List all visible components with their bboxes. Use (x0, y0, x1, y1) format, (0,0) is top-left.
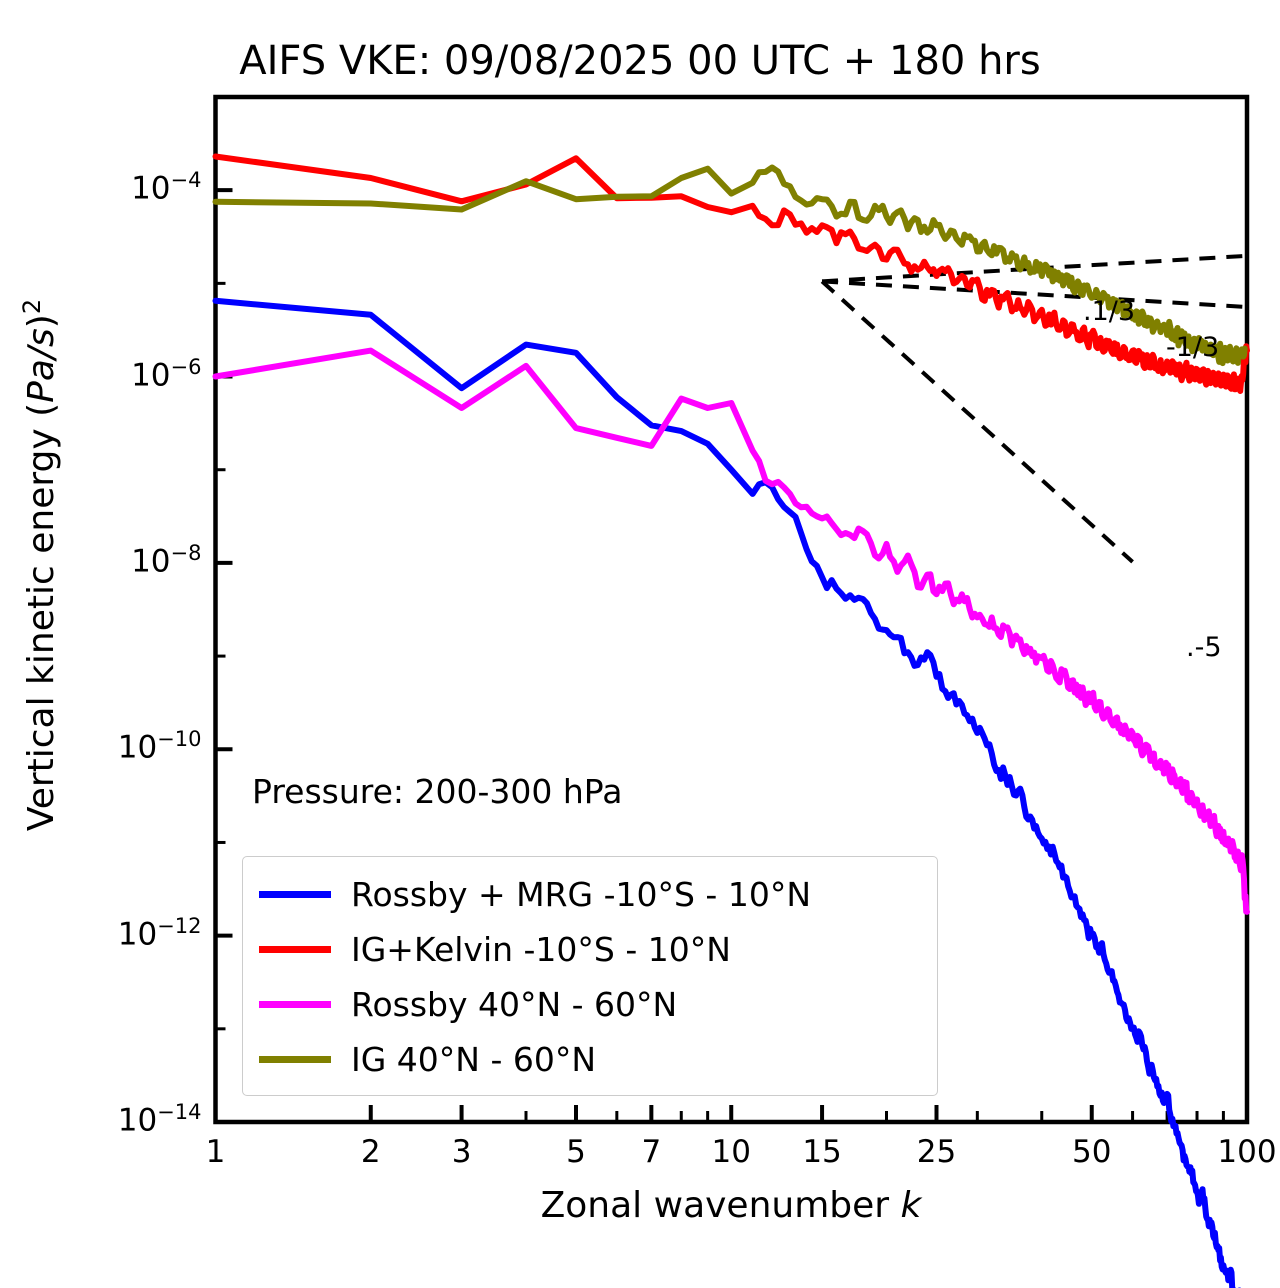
x-tick-label: 100 (1197, 1134, 1280, 1170)
chart-figure: AIFS VKE: 09/08/2025 00 UTC + 180 hrs Ve… (0, 0, 1280, 1288)
legend-swatch-red (259, 946, 331, 953)
x-tick-label: 1 (166, 1134, 266, 1170)
slope-label-pos-third: .1/3 (1083, 296, 1135, 327)
x-tick-label: 25 (886, 1134, 986, 1170)
x-tick-label: 50 (1042, 1134, 1142, 1170)
legend-item-rossby-mrg[interactable]: Rossby + MRG -10°S - 10°N (243, 867, 937, 922)
reference-lines (822, 256, 1247, 562)
legend-item-ig-midlat[interactable]: IG 40°N - 60°N (243, 1032, 937, 1087)
legend-label: IG+Kelvin -10°S - 10°N (351, 933, 731, 966)
x-tick-label: 15 (772, 1134, 872, 1170)
series-line (216, 351, 1248, 912)
legend-swatch-magenta (259, 1001, 331, 1008)
legend-label: IG 40°N - 60°N (351, 1043, 596, 1076)
y-tick-label: 10−10 (118, 727, 202, 765)
pressure-annotation: Pressure: 200-300 hPa (252, 772, 622, 811)
legend-label: Rossby 40°N - 60°N (351, 988, 677, 1021)
legend-swatch-blue (259, 891, 331, 898)
y-tick-label: 10−14 (118, 1100, 202, 1138)
legend-swatch-olive (259, 1056, 331, 1063)
slope-label-neg-third: -1/3 (1166, 332, 1219, 363)
y-tick-label: 10−12 (118, 914, 202, 952)
y-tick-label: 10−6 (131, 355, 201, 393)
x-tick-label: 2 (321, 1134, 421, 1170)
y-tick-label: 10−8 (131, 541, 201, 579)
x-tick-label: 10 (681, 1134, 781, 1170)
y-tick-label: 10−4 (131, 168, 201, 206)
legend[interactable]: Rossby + MRG -10°S - 10°N IG+Kelvin -10°… (242, 856, 938, 1096)
x-tick-label: 3 (412, 1134, 512, 1170)
legend-item-rossby-midlat[interactable]: Rossby 40°N - 60°N (243, 977, 937, 1032)
slope-label-neg-five: .-5 (1186, 632, 1222, 663)
legend-item-ig-kelvin[interactable]: IG+Kelvin -10°S - 10°N (243, 922, 937, 977)
legend-label: Rossby + MRG -10°S - 10°N (351, 878, 811, 911)
